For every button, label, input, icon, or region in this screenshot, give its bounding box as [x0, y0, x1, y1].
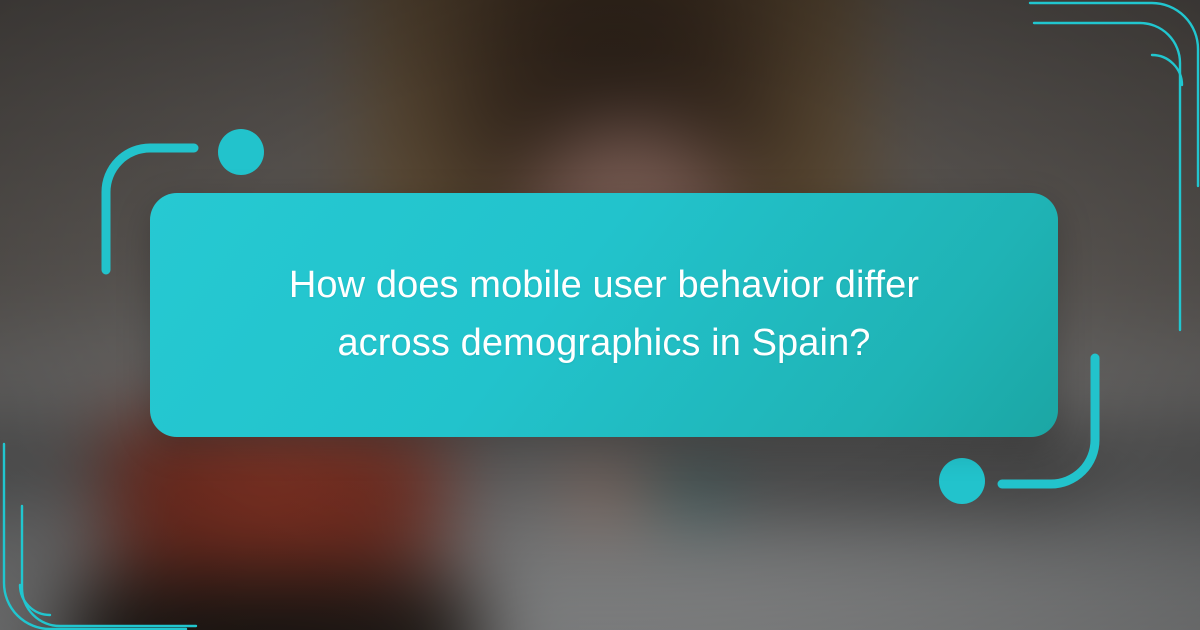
question-card: How does mobile user behavior differ acr… — [150, 193, 1058, 437]
social-card-stage: How does mobile user behavior differ acr… — [0, 0, 1200, 630]
question-text: How does mobile user behavior differ acr… — [234, 257, 974, 373]
